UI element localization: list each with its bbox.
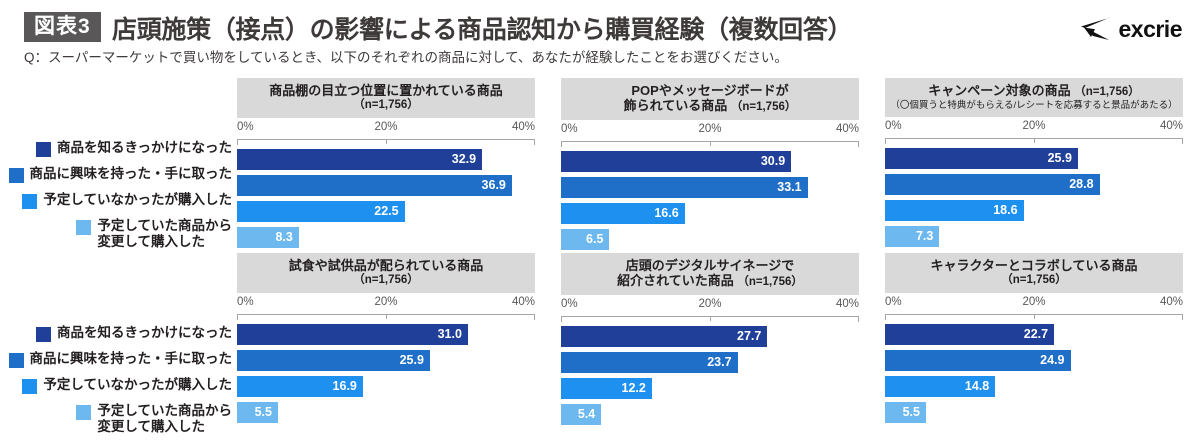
bar[interactable]: 33.1 [561, 177, 808, 198]
bar[interactable]: 5.4 [561, 404, 601, 425]
chart-panel-title: POPやメッセージボードが飾られている商品 （n=1,756） [561, 78, 859, 120]
bar-value-label: 22.5 [374, 205, 404, 218]
x-axis-tick-label: 40% [1160, 120, 1183, 132]
x-axis-tick-label: 40% [512, 296, 535, 308]
x-axis-tick-label: 40% [836, 123, 859, 135]
survey-question: Q：スーパーマーケットで買い物をしているとき、以下のそれぞれの商品に対して、あな… [24, 46, 788, 66]
x-axis-tick-label: 20% [698, 298, 721, 310]
bar-row: 6.5 [561, 227, 859, 253]
bar-value-label: 28.8 [1069, 178, 1099, 191]
bar-row: 22.7 [885, 322, 1183, 348]
legend-item[interactable]: 商品に興味を持った・手に取った [0, 166, 232, 192]
x-axis-tick-label: 40% [1160, 296, 1183, 308]
x-axis-tick-label: 0% [561, 298, 578, 310]
legend-item-label: 予定していた商品から変更して購入した [97, 403, 232, 435]
chart-panel-1: 商品棚の目立つ位置に置かれている商品（n=1,756）0%20%40%32.93… [237, 78, 535, 251]
logo-text: excrie [1118, 18, 1182, 41]
x-axis-line [237, 314, 535, 321]
x-axis-line [885, 314, 1183, 321]
bar-row: 16.6 [561, 201, 859, 227]
bar[interactable]: 8.3 [237, 227, 299, 248]
x-axis-line [885, 138, 1183, 145]
bar-row: 18.6 [885, 198, 1183, 224]
x-axis-tick-label: 20% [374, 121, 397, 133]
x-axis-line [561, 316, 859, 323]
chart-panel-title: 店頭のデジタルサイネージで紹介されていた商品 （n=1,756） [561, 253, 859, 295]
legend-item[interactable]: 予定していなかったが購入した [0, 377, 232, 403]
bar[interactable]: 24.9 [885, 350, 1071, 371]
bar-value-label: 5.5 [255, 406, 278, 419]
bar-value-label: 27.7 [737, 330, 767, 343]
bar-value-label: 33.1 [777, 181, 807, 194]
bar[interactable]: 25.9 [885, 148, 1078, 169]
figure-badge: 図表3 [24, 12, 101, 42]
x-axis-tick-mark [1182, 314, 1183, 320]
bar-value-label: 7.3 [916, 230, 939, 243]
x-axis-tick-mark [1034, 138, 1035, 143]
x-axis-tick-mark [534, 139, 535, 145]
x-axis-labels: 0%20%40% [237, 121, 535, 139]
bar[interactable]: 18.6 [885, 200, 1024, 221]
x-axis-tick-label: 20% [374, 296, 397, 308]
bar[interactable]: 6.5 [561, 229, 609, 250]
bar[interactable]: 25.9 [237, 350, 430, 371]
bar[interactable]: 16.9 [237, 376, 363, 397]
bar[interactable]: 5.5 [237, 402, 278, 423]
bar-row: 12.2 [561, 376, 859, 402]
brand-logo: excrie [1079, 16, 1182, 42]
legend-item[interactable]: 予定していた商品から変更して購入した [0, 403, 232, 437]
bar-row: 22.5 [237, 199, 535, 225]
bar-row: 27.7 [561, 324, 859, 350]
bar-value-label: 8.3 [275, 231, 298, 244]
bar[interactable]: 22.5 [237, 201, 405, 222]
bar-value-label: 36.9 [482, 179, 512, 192]
x-axis-tick-label: 20% [1022, 296, 1045, 308]
legend-color-swatch-icon [9, 168, 24, 183]
x-axis-labels: 0%20%40% [561, 123, 859, 141]
bar-row: 24.9 [885, 348, 1183, 374]
x-axis-tick-mark [386, 314, 387, 319]
legend-color-swatch-icon [22, 194, 37, 209]
bar[interactable]: 32.9 [237, 149, 482, 170]
x-axis-tick-mark [1182, 138, 1183, 144]
bar[interactable]: 22.7 [885, 324, 1054, 345]
bar-value-label: 24.9 [1040, 354, 1070, 367]
legend-item-label: 商品に興味を持った・手に取った [30, 166, 233, 182]
bar[interactable]: 27.7 [561, 326, 767, 347]
legend-color-swatch-icon [76, 405, 91, 420]
bar[interactable]: 7.3 [885, 226, 939, 247]
bar-value-label: 32.9 [452, 153, 482, 166]
bars-container: 30.933.116.66.5 [561, 149, 859, 253]
bars-container: 32.936.922.58.3 [237, 147, 535, 251]
x-axis-tick-mark [237, 139, 238, 145]
x-axis-line [561, 141, 859, 148]
chart-panel-2: POPやメッセージボードが飾られている商品 （n=1,756）0%20%40%3… [561, 78, 859, 253]
x-axis-tick-mark [386, 139, 387, 144]
bar[interactable]: 16.6 [561, 203, 685, 224]
bar-row: 8.3 [237, 225, 535, 251]
legend-item[interactable]: 予定していた商品から変更して購入した [0, 218, 232, 252]
x-axis-tick-mark [858, 141, 859, 147]
bar-row: 33.1 [561, 175, 859, 201]
bar-value-label: 31.0 [438, 328, 468, 341]
x-axis-labels: 0%20%40% [885, 296, 1183, 314]
legend-item[interactable]: 商品を知るきっかけになった [0, 140, 232, 166]
bar[interactable]: 23.7 [561, 352, 738, 373]
excrie-mark-icon [1079, 16, 1113, 42]
legend-item-label: 予定していなかったが購入した [43, 192, 232, 208]
bar-value-label: 14.8 [965, 380, 995, 393]
x-axis-tick-mark [561, 316, 562, 322]
bars-container: 31.025.916.95.5 [237, 322, 535, 426]
bar-value-label: 22.7 [1024, 328, 1054, 341]
page-title: 店頭施策（接点）の影響による商品認知から購買経験（複数回答） [112, 10, 852, 46]
bars-container: 25.928.818.67.3 [885, 146, 1183, 250]
bar-value-label: 25.9 [400, 354, 430, 367]
bar[interactable]: 31.0 [237, 324, 468, 345]
x-axis-line [237, 139, 535, 146]
x-axis-tick-mark [885, 138, 886, 144]
legend-color-swatch-icon [22, 379, 37, 394]
bars-container: 27.723.712.25.4 [561, 324, 859, 428]
bar-row: 25.9 [885, 146, 1183, 172]
bar-value-label: 12.2 [622, 382, 652, 395]
bar-value-label: 25.9 [1048, 152, 1078, 165]
bar[interactable]: 5.5 [885, 402, 926, 423]
legend-color-swatch-icon [76, 220, 91, 235]
bar-value-label: 5.5 [903, 406, 926, 419]
bar[interactable]: 28.8 [885, 174, 1100, 195]
bar[interactable]: 30.9 [561, 151, 791, 172]
bar-row: 32.9 [237, 147, 535, 173]
x-axis-tick-label: 0% [561, 123, 578, 135]
legend-item-label: 商品に興味を持った・手に取った [30, 351, 233, 367]
x-axis-tick-mark [885, 314, 886, 320]
chart-panel-3: キャンペーン対象の商品 （n=1,756）（〇個買うと特典がもらえる/レシートを… [885, 78, 1183, 250]
legend-row-2: 商品を知るきっかけになった商品に興味を持った・手に取った予定していなかったが購入… [0, 325, 232, 437]
x-axis-labels: 0%20%40% [885, 120, 1183, 138]
bar-value-label: 30.9 [761, 155, 791, 168]
x-axis-tick-mark [1034, 314, 1035, 319]
bar-value-label: 18.6 [993, 204, 1023, 217]
bar-row: 5.5 [237, 400, 535, 426]
x-axis-tick-mark [237, 314, 238, 320]
legend-color-swatch-icon [36, 327, 51, 342]
x-axis-labels: 0%20%40% [237, 296, 535, 314]
x-axis-tick-mark [534, 314, 535, 320]
chart-panel-5: 店頭のデジタルサイネージで紹介されていた商品 （n=1,756）0%20%40%… [561, 253, 859, 428]
bar-row: 23.7 [561, 350, 859, 376]
x-axis-tick-mark [710, 316, 711, 321]
legend-item-label: 予定していた商品から変更して購入した [97, 218, 232, 250]
x-axis-tick-mark [561, 141, 562, 147]
bar-row: 5.4 [561, 402, 859, 428]
bar-value-label: 6.5 [586, 233, 609, 246]
x-axis-tick-label: 0% [885, 296, 902, 308]
x-axis-tick-label: 20% [1022, 120, 1045, 132]
legend-item[interactable]: 商品を知るきっかけになった [0, 325, 232, 351]
chart-panel-4: 試食や試供品が配られている商品（n=1,756）0%20%40%31.025.9… [237, 253, 535, 426]
x-axis-tick-mark [710, 141, 711, 146]
bars-container: 22.724.914.85.5 [885, 322, 1183, 426]
bar-row: 30.9 [561, 149, 859, 175]
bar-row: 5.5 [885, 400, 1183, 426]
x-axis-tick-label: 40% [512, 121, 535, 133]
bar-row: 36.9 [237, 173, 535, 199]
bar-row: 7.3 [885, 224, 1183, 250]
x-axis-tick-label: 0% [885, 120, 902, 132]
legend-color-swatch-icon [36, 142, 51, 157]
x-axis-tick-label: 20% [698, 123, 721, 135]
bar-row: 16.9 [237, 374, 535, 400]
legend-color-swatch-icon [9, 353, 24, 368]
legend-item[interactable]: 予定していなかったが購入した [0, 192, 232, 218]
x-axis-tick-mark [858, 316, 859, 322]
x-axis-tick-label: 40% [836, 298, 859, 310]
bar-row: 28.8 [885, 172, 1183, 198]
legend-item-label: 商品を知るきっかけになった [57, 140, 232, 156]
bar-value-label: 16.6 [654, 207, 684, 220]
bar-value-label: 5.4 [578, 408, 601, 421]
bar[interactable]: 36.9 [237, 175, 512, 196]
x-axis-tick-label: 0% [237, 121, 254, 133]
bar-value-label: 23.7 [707, 356, 737, 369]
bar-row: 25.9 [237, 348, 535, 374]
chart-panel-title: キャンペーン対象の商品 （n=1,756）（〇個買うと特典がもらえる/レシートを… [885, 78, 1183, 117]
legend-item-label: 商品を知るきっかけになった [57, 325, 232, 341]
bar-row: 31.0 [237, 322, 535, 348]
bar[interactable]: 12.2 [561, 378, 652, 399]
chart-panel-title: 試食や試供品が配られている商品（n=1,756） [237, 253, 535, 293]
legend-item[interactable]: 商品に興味を持った・手に取った [0, 351, 232, 377]
bar[interactable]: 14.8 [885, 376, 995, 397]
chart-panel-6: キャラクターとコラボしている商品（n=1,756）0%20%40%22.724.… [885, 253, 1183, 426]
bar-value-label: 16.9 [333, 380, 363, 393]
chart-panel-title: 商品棚の目立つ位置に置かれている商品（n=1,756） [237, 78, 535, 118]
legend-item-label: 予定していなかったが購入した [43, 377, 232, 393]
chart-panel-title: キャラクターとコラボしている商品（n=1,756） [885, 253, 1183, 293]
page-header: 図表3 店頭施策（接点）の影響による商品認知から購買経験（複数回答） Q：スーパ… [0, 0, 1200, 64]
x-axis-tick-label: 0% [237, 296, 254, 308]
x-axis-labels: 0%20%40% [561, 298, 859, 316]
bar-row: 14.8 [885, 374, 1183, 400]
legend-row-1: 商品を知るきっかけになった商品に興味を持った・手に取った予定していなかったが購入… [0, 140, 232, 252]
